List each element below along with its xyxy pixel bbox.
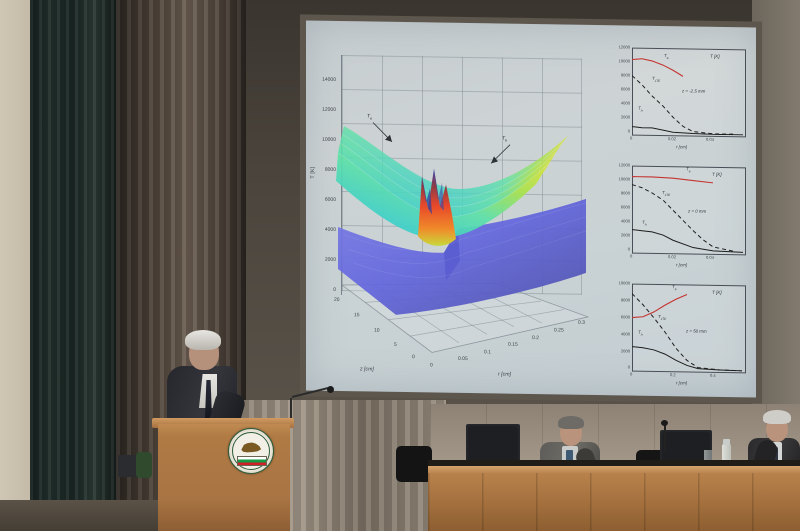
inset2-x-label: r [cm]: [676, 262, 687, 267]
inset2-series-lte: TLTE: [662, 190, 670, 197]
inset1-y-tick: 4000: [604, 100, 630, 105]
annotation-th-sub: h: [505, 139, 507, 143]
panel-monitor-left: [466, 424, 520, 464]
z-tick: 0: [412, 354, 415, 360]
inset3-series-te: Te: [672, 284, 676, 291]
inset2-y-tick: 0: [604, 246, 630, 251]
inset1-y-tick: 12000: [604, 44, 630, 49]
inset1-unit-label: T [K]: [710, 54, 720, 59]
inset-plot-3: 10000 8000 6000 4000 2000 0 Te TLTE: [606, 279, 752, 281]
inset-plot-1: 12000 10000 8000 6000 4000 2000 0 Te TLT…: [606, 43, 752, 45]
r-tick: 0.3: [578, 320, 585, 326]
inset2-y-tick: 4000: [604, 218, 630, 223]
annotation-te: Te: [367, 113, 372, 120]
inset3-unit-label: T [K]: [712, 290, 722, 295]
inset1-y-tick: 8000: [604, 72, 630, 77]
y-tick: 12000: [312, 107, 336, 113]
annotation-th-arrow: [488, 143, 514, 174]
r-axis-label: r [cm]: [498, 371, 511, 377]
inset1-x-tick: 0: [630, 136, 632, 141]
inset-plots-column: 12000 10000 8000 6000 4000 2000 0 Te TLT…: [606, 43, 752, 395]
plant: [136, 452, 152, 478]
annotation-te-arrow: [372, 122, 398, 153]
z-axis-label: z [cm]: [360, 366, 374, 372]
inset3-y-tick: 10000: [604, 280, 630, 285]
inset1-series-te: Te: [664, 53, 668, 60]
inset3-y-tick: 2000: [604, 348, 630, 353]
inset3-x-tick: 0.4: [710, 373, 716, 378]
teal-curtain: [30, 0, 118, 531]
annotation-te-sub: e: [370, 116, 372, 120]
r-tick: 0: [430, 362, 433, 368]
inset1-x-tick: 0.02: [668, 136, 676, 141]
speaker-hair: [185, 330, 221, 350]
inset2-condition: z = 0 mm: [688, 208, 706, 213]
inset1-series-lte: TLTE: [652, 76, 660, 83]
y-tick: 6000: [312, 197, 336, 203]
inset3-y-tick: 0: [604, 364, 630, 369]
r-tick: 0.05: [458, 356, 468, 362]
inset2-x-tick: 0: [630, 254, 632, 259]
inset1-x-label: r [cm]: [676, 144, 687, 149]
annotation-th: Th: [502, 136, 507, 143]
inset2-y-tick: 2000: [604, 232, 630, 237]
podium-emblem: [228, 428, 274, 474]
inset2-unit-label: T [K]: [712, 172, 722, 177]
r-tick: 0.2: [532, 335, 539, 341]
podium-mic-head: [327, 386, 334, 393]
conference-room-photo: T [K] 14000 12000 10000 8000 6000 4000 2…: [0, 0, 800, 531]
panel-mic-stand: [664, 424, 666, 452]
inset3-y-tick: 4000: [604, 331, 630, 336]
water-bottle-cap: [723, 439, 730, 445]
y-tick: 0: [312, 287, 336, 293]
inset-plot-2: 12000 10000 8000 6000 4000 2000 0 Te TLT…: [606, 161, 752, 163]
z-tick: 10: [374, 328, 380, 334]
inset2-x-tick: 0.04: [706, 255, 714, 260]
panel-chair-left: [396, 446, 432, 482]
inset3-x-label: r [cm]: [676, 380, 687, 385]
inset3-y-tick: 8000: [604, 297, 630, 302]
inset1-series-th: Th: [638, 106, 642, 113]
z-tick: 20: [334, 297, 340, 303]
inset2-series-te: Te: [686, 166, 690, 173]
emblem-flag-icon: [237, 456, 267, 466]
inset3-x-tick: 0: [630, 372, 632, 377]
inset2-series-th: Th: [642, 220, 646, 227]
inset1-y-tick: 2000: [604, 114, 630, 119]
y-tick: 4000: [312, 227, 336, 233]
inset3-x-tick: 0.2: [670, 372, 676, 377]
inset1-y-tick: 10000: [604, 58, 630, 63]
presentation-slide: T [K] 14000 12000 10000 8000 6000 4000 2…: [306, 20, 756, 397]
y-tick: 2000: [312, 257, 336, 263]
inset2-x-tick: 0.02: [668, 254, 676, 259]
inset2-y-tick: 10000: [604, 176, 630, 181]
inset1-y-tick: 6000: [604, 86, 630, 91]
inset3-condition: z = 50 mm: [686, 328, 707, 333]
r-tick: 0.25: [554, 327, 564, 333]
surface-plot-3d: T [K] 14000 12000 10000 8000 6000 4000 2…: [312, 51, 604, 376]
panel-person-2-hair: [763, 410, 791, 424]
inset3-series-lte: TLTE: [658, 314, 666, 321]
inset2-y-tick: 12000: [604, 162, 630, 167]
y-tick: 8000: [312, 167, 336, 173]
panel-person-1-hair: [558, 416, 584, 429]
z-tick: 5: [394, 342, 397, 348]
inset3-series-th: Th: [638, 330, 642, 337]
inset1-condition: z = -2.5 mm: [682, 88, 705, 93]
inset1-y-tick: 0: [604, 128, 630, 133]
inset3-y-tick: 6000: [604, 314, 630, 319]
y-tick: 14000: [312, 77, 336, 83]
left-wall: [0, 0, 34, 531]
r-tick: 0.1: [484, 349, 491, 355]
inset2-y-tick: 8000: [604, 190, 630, 195]
inset2-y-tick: 6000: [604, 204, 630, 209]
y-tick: 10000: [312, 137, 336, 143]
inset1-x-tick: 0.04: [706, 137, 714, 142]
z-tick: 15: [354, 312, 360, 318]
panel-mic-head: [661, 420, 668, 426]
panel-table-front: [428, 473, 800, 531]
r-tick: 0.15: [508, 342, 518, 348]
